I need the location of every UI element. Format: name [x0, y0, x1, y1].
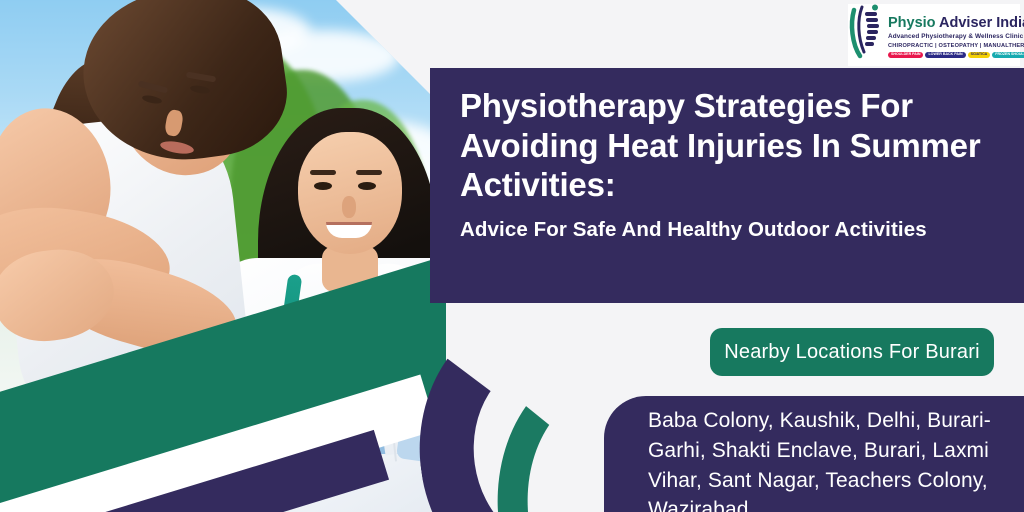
header-panel: Physiotherapy Strategies For Avoiding He…	[430, 68, 1024, 303]
banner-root: Physiotherapy Strategies For Avoiding He…	[0, 0, 1024, 512]
logo-title: Physio Adviser India	[888, 16, 1024, 31]
doctor-nose	[342, 196, 356, 218]
logo-badge: SCIATICA	[968, 52, 991, 59]
doctor-eye	[358, 182, 376, 190]
locations-text: Baba Colony, Kaushik, Delhi, Burari-Garh…	[648, 406, 1010, 512]
doctor-eyebrow	[356, 170, 382, 175]
logo-badge: LOWER BACK PAIN	[925, 52, 965, 59]
logo-badge-list: SHOULDER PAINLOWER BACK PAINSCIATICAFROZ…	[888, 52, 1024, 59]
doctor-eyebrow	[310, 170, 336, 175]
page-subtitle: Advice For Safe And Healthy Outdoor Acti…	[460, 218, 1004, 242]
brand-logo[interactable]: Physio Adviser India Advanced Physiother…	[848, 4, 1020, 66]
logo-specialties: CHIROPRACTIC | OSTEOPATHY | MANUALTHERAP…	[888, 43, 1024, 49]
logo-name-part2: Adviser India	[936, 15, 1024, 31]
logo-badge: FROZEN SHOULDER	[992, 52, 1024, 59]
doctor-eye	[314, 182, 332, 190]
logo-tagline: Advanced Physiotherapy & Wellness Clinic	[888, 33, 1024, 40]
page-title: Physiotherapy Strategies For Avoiding He…	[460, 86, 1002, 205]
logo-name-part1: Physio	[888, 15, 936, 31]
logo-badge: SHOULDER PAIN	[888, 52, 923, 59]
logo-text-block: Physio Adviser India Advanced Physiother…	[888, 4, 1024, 58]
nearby-locations-button-label: Nearby Locations For Burari	[724, 341, 980, 364]
locations-panel: Baba Colony, Kaushik, Delhi, Burari-Garh…	[604, 396, 1024, 512]
spine-icon	[848, 4, 888, 60]
nearby-locations-button[interactable]: Nearby Locations For Burari	[710, 328, 994, 376]
hero-photo	[0, 0, 446, 512]
